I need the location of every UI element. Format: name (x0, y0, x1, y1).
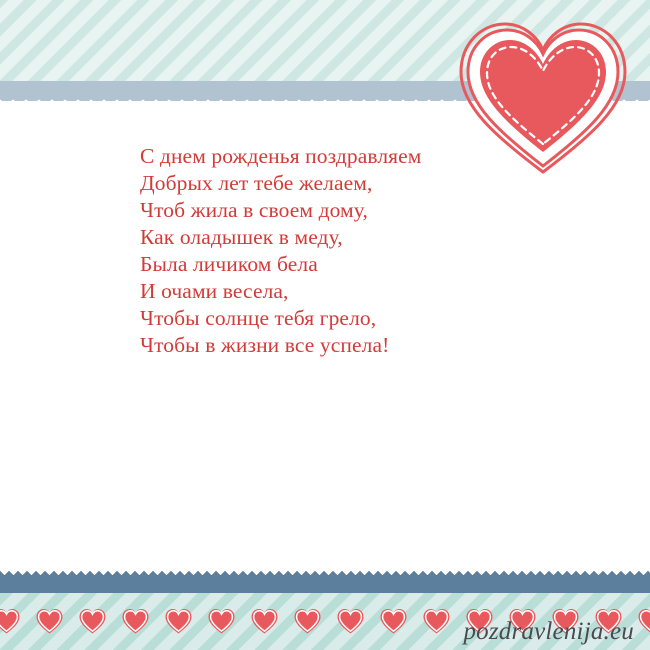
bottom-blue-band (0, 581, 650, 593)
watermark-text: pozdravlenija.eu (463, 618, 634, 646)
small-heart-icon (164, 607, 193, 635)
small-heart-icon (35, 607, 64, 635)
poem-text: С днем рожденья поздравляем Добрых лет т… (140, 143, 560, 359)
poem-line: И очами весела, (140, 278, 560, 305)
poem-line: Чтобы в жизни все успела! (140, 332, 560, 359)
poem-line: Чтобы солнце тебя грело, (140, 305, 560, 332)
poem-line: Чтоб жила в своем дому, (140, 197, 560, 224)
poem-line: Добрых лет тебе желаем, (140, 170, 560, 197)
poem-line: Как оладышек в меду, (140, 224, 560, 251)
small-heart-icon (250, 607, 279, 635)
small-heart-icon (207, 607, 236, 635)
poem-line: Была личиком бела (140, 251, 560, 278)
small-heart-icon (293, 607, 322, 635)
small-heart-icon (637, 607, 650, 635)
small-heart-icon (379, 607, 408, 635)
greeting-card: С днем рожденья поздравляем Добрых лет т… (0, 0, 650, 650)
small-heart-icon (422, 607, 451, 635)
poem-line: С днем рожденья поздравляем (140, 143, 560, 170)
small-heart-icon (336, 607, 365, 635)
small-heart-icon (121, 607, 150, 635)
small-heart-icon (78, 607, 107, 635)
small-heart-icon (0, 607, 21, 635)
